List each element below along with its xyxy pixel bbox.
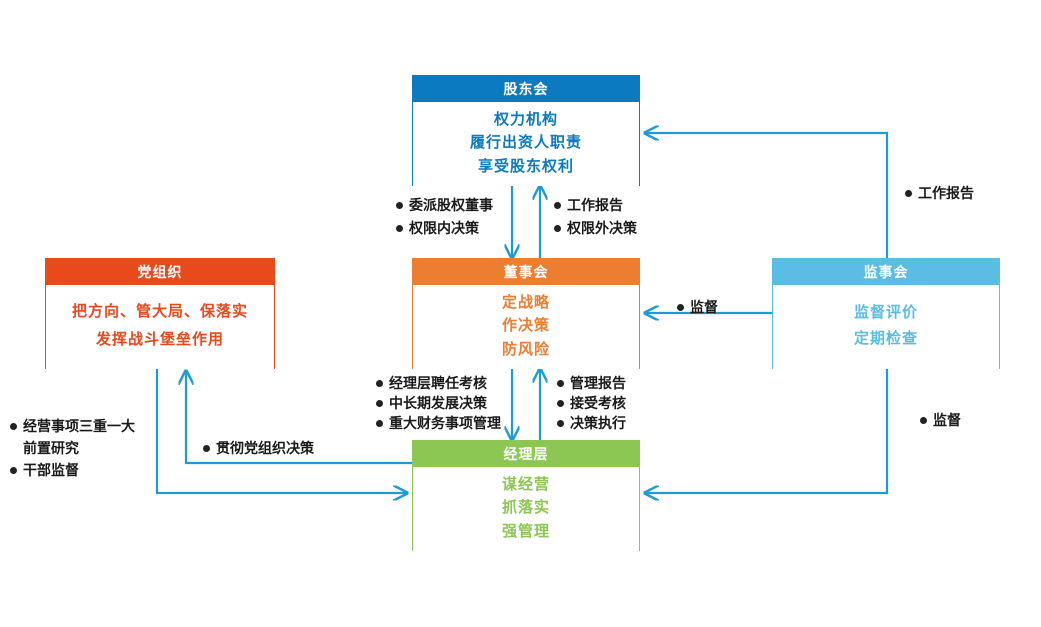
label-row: 工作报告	[905, 186, 974, 200]
shareholders-meeting-body: 权力机构 履行出资人职责 享受股东权利	[413, 102, 639, 186]
label-text: 工作报告	[918, 186, 974, 200]
party-organization-box[interactable]: 党组织 把方向、管大局、保落实 发挥战斗堡垒作用	[45, 258, 275, 369]
label-row: 干部监督	[10, 463, 135, 477]
bullet-icon	[376, 380, 383, 387]
bullet-icon	[554, 202, 561, 209]
label-text: 监督	[690, 300, 718, 314]
label-text: 监督	[933, 413, 961, 427]
bullet-icon	[557, 400, 564, 407]
management-line-1: 谋经营	[502, 477, 550, 492]
shareholders-meeting-box[interactable]: 股东会 权力机构 履行出资人职责 享受股东权利	[412, 75, 640, 186]
label-row: 中长期发展决策	[376, 396, 501, 410]
party-organization-title: 党组织	[46, 259, 274, 285]
bullet-icon	[10, 467, 17, 474]
label-group-party-to-management: 经营事项三重一大 前置研究 干部监督	[10, 419, 135, 485]
label-text: 干部监督	[23, 463, 79, 477]
label-row: 工作报告	[554, 198, 637, 212]
label-text: 前置研究	[23, 441, 79, 455]
label-text: 贯彻党组织决策	[216, 441, 314, 455]
board-of-directors-title: 董事会	[413, 259, 639, 285]
shareholders-line-2: 履行出资人职责	[470, 135, 582, 150]
label-text: 中长期发展决策	[389, 396, 487, 410]
management-line-3: 强管理	[502, 524, 550, 539]
management-layer-title: 经理层	[413, 441, 639, 467]
bullet-icon	[376, 400, 383, 407]
label-group-supervisors-to-board: 监督	[677, 300, 718, 314]
label-row: 决策执行	[557, 416, 626, 430]
shareholders-meeting-title: 股东会	[413, 76, 639, 102]
bullet-icon	[905, 190, 912, 197]
bullet-icon	[376, 420, 383, 427]
label-text: 重大财务事项管理	[389, 416, 501, 430]
label-text: 管理报告	[570, 376, 626, 390]
label-group-supervisors-to-management: 监督	[920, 413, 961, 427]
bullet-icon	[396, 225, 403, 232]
party-line-2: 发挥战斗堡垒作用	[96, 332, 224, 347]
label-text: 工作报告	[567, 198, 623, 212]
label-group-management-to-board: 管理报告 接受考核 决策执行	[557, 376, 626, 436]
label-text: 经理层聘任考核	[389, 376, 487, 390]
label-row: 贯彻党组织决策	[203, 441, 314, 455]
label-row: 经营事项三重一大	[10, 419, 135, 433]
label-text: 经营事项三重一大	[23, 419, 135, 433]
label-row: 委派股权董事	[396, 198, 493, 212]
governance-diagram: 股东会 权力机构 履行出资人职责 享受股东权利 党组织 把方向、管大局、保落实 …	[0, 0, 1041, 627]
board-of-directors-box[interactable]: 董事会 定战略 作决策 防风险	[412, 258, 640, 369]
management-line-2: 抓落实	[502, 500, 550, 515]
bullet-icon	[557, 380, 564, 387]
supervisors-line-1: 监督评价	[854, 305, 918, 320]
connector-party-to-management	[157, 369, 407, 493]
label-group-board-to-management: 经理层聘任考核 中长期发展决策 重大财务事项管理	[376, 376, 501, 436]
label-row-continuation: 前置研究	[10, 441, 135, 455]
board-of-supervisors-box[interactable]: 监事会 监督评价 定期检查	[772, 258, 1000, 369]
label-group-shareholders-to-board: 委派股权董事 权限内决策	[396, 198, 493, 244]
shareholders-line-1: 权力机构	[494, 112, 558, 127]
label-group-board-to-shareholders: 工作报告 权限外决策	[554, 198, 637, 244]
label-row: 接受考核	[557, 396, 626, 410]
party-line-1: 把方向、管大局、保落实	[72, 304, 248, 319]
connector-supervisors-to-management	[645, 369, 887, 493]
bullet-icon	[203, 445, 210, 452]
label-row: 监督	[920, 413, 961, 427]
label-row: 管理报告	[557, 376, 626, 390]
bullet-icon	[10, 423, 17, 430]
label-row: 权限内决策	[396, 221, 493, 235]
board-of-supervisors-title: 监事会	[773, 259, 999, 285]
label-group-management-to-party: 贯彻党组织决策	[203, 441, 314, 455]
label-text: 委派股权董事	[409, 198, 493, 212]
bullet-icon	[554, 225, 561, 232]
board-of-supervisors-body: 监督评价 定期检查	[773, 285, 999, 369]
label-text: 权限外决策	[567, 221, 637, 235]
supervisors-line-2: 定期检查	[854, 331, 918, 346]
bullet-icon	[677, 304, 684, 311]
board-line-2: 作决策	[502, 318, 550, 333]
label-row: 重大财务事项管理	[376, 416, 501, 430]
label-text: 权限内决策	[409, 221, 479, 235]
management-layer-box[interactable]: 经理层 谋经营 抓落实 强管理	[412, 440, 640, 551]
connector-supervisors-to-shareholders	[645, 133, 887, 258]
label-row: 监督	[677, 300, 718, 314]
bullet-icon	[920, 417, 927, 424]
label-row: 经理层聘任考核	[376, 376, 501, 390]
board-of-directors-body: 定战略 作决策 防风险	[413, 285, 639, 369]
label-text: 接受考核	[570, 396, 626, 410]
board-line-1: 定战略	[502, 295, 550, 310]
label-group-supervisors-to-shareholders: 工作报告	[905, 186, 974, 200]
label-row: 权限外决策	[554, 221, 637, 235]
label-text: 决策执行	[570, 416, 626, 430]
board-line-3: 防风险	[502, 342, 550, 357]
shareholders-line-3: 享受股东权利	[478, 159, 574, 174]
bullet-icon	[557, 420, 564, 427]
bullet-icon	[396, 202, 403, 209]
party-organization-body: 把方向、管大局、保落实 发挥战斗堡垒作用	[46, 285, 274, 369]
management-layer-body: 谋经营 抓落实 强管理	[413, 467, 639, 551]
